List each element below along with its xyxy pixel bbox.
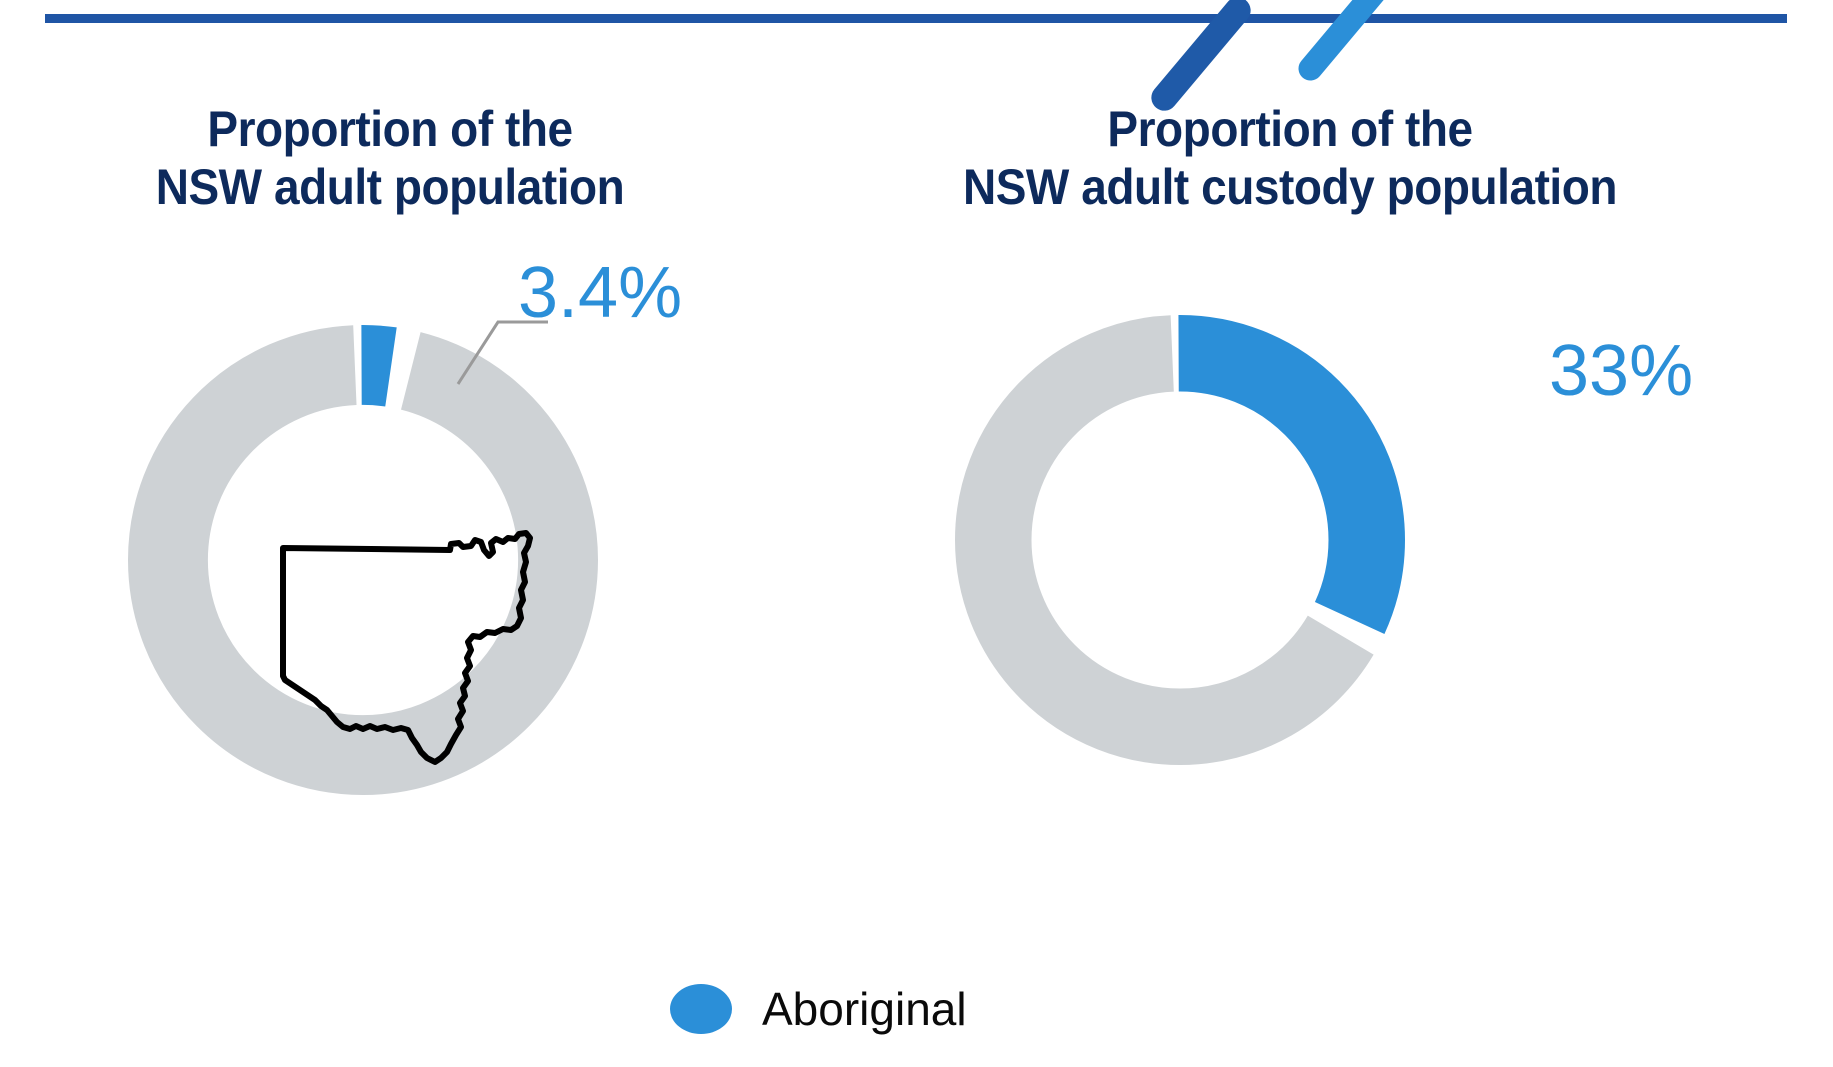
- donut-chart-nsw-adult-custody-population: [955, 315, 1405, 765]
- panel-title-nsw-adult-custody-population: Proportion of the NSW adult custody popu…: [830, 100, 1750, 216]
- panel-title-line1: Proportion of the: [50, 100, 731, 158]
- callout-value-nsw-adult-custody-population: 33%: [1549, 330, 1693, 412]
- diagonal-stripe-light-icon: [1294, 0, 1391, 85]
- panel-title-nsw-adult-population: Proportion of the NSW adult population: [50, 100, 731, 216]
- legend-swatch-aboriginal: [670, 984, 732, 1034]
- header-rule: [45, 14, 1787, 23]
- chart-legend: Aboriginal: [670, 982, 967, 1036]
- panel-title-line2: NSW adult population: [50, 158, 731, 216]
- panel-title-line1: Proportion of the: [830, 100, 1750, 158]
- nsw-boundary-path: [283, 533, 530, 762]
- panel-title-line2: NSW adult custody population: [830, 158, 1750, 216]
- legend-label-aboriginal: Aboriginal: [762, 982, 967, 1036]
- nsw-outline-svg: [275, 530, 545, 780]
- donut-right-svg: [955, 315, 1405, 765]
- new-south-wales-map-icon: [275, 530, 545, 780]
- callout-value-nsw-adult-population: 3.4%: [518, 252, 682, 334]
